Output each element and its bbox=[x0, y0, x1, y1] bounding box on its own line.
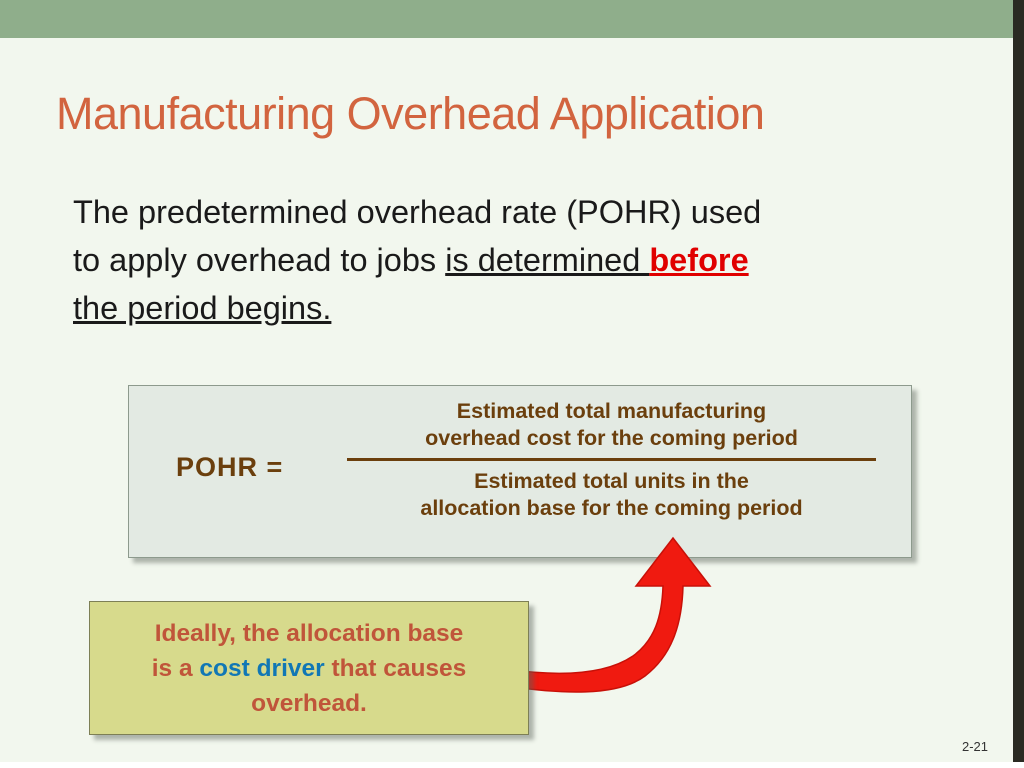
right-edge-strip bbox=[1013, 0, 1024, 768]
callout-line-3: overhead. bbox=[251, 690, 367, 717]
pohr-fraction: Estimated total manufacturing overhead c… bbox=[339, 398, 884, 522]
pohr-label: POHR = bbox=[176, 452, 283, 483]
bottom-edge-strip bbox=[0, 762, 1024, 768]
formula-box: POHR = Estimated total manufacturing ove… bbox=[128, 385, 912, 558]
top-green-band bbox=[0, 0, 1013, 38]
callout-line-2-pre: is a bbox=[152, 655, 200, 682]
fraction-bar bbox=[347, 458, 876, 461]
numerator-line-1: Estimated total manufacturing bbox=[339, 398, 884, 425]
body-line-2-plain: to apply overhead to jobs bbox=[73, 242, 445, 278]
denominator-line-1: Estimated total units in the bbox=[339, 468, 884, 495]
callout-line-2-post: that causes bbox=[325, 655, 467, 682]
body-emphasis-before: before bbox=[649, 242, 748, 278]
callout-line-1: Ideally, the allocation base bbox=[155, 620, 464, 647]
body-line-3-underlined: the period begins. bbox=[73, 290, 331, 326]
fraction-numerator: Estimated total manufacturing overhead c… bbox=[339, 398, 884, 456]
slide-canvas: Manufacturing Overhead Application The p… bbox=[0, 0, 1024, 768]
callout-highlight-cost-driver: cost driver bbox=[199, 655, 324, 682]
red-curved-arrow-icon bbox=[505, 536, 735, 696]
callout-box: Ideally, the allocation base is a cost d… bbox=[89, 601, 529, 735]
numerator-line-2: overhead cost for the coming period bbox=[339, 425, 884, 452]
page-number: 2-21 bbox=[962, 739, 988, 754]
callout-text: Ideally, the allocation base is a cost d… bbox=[90, 616, 528, 721]
body-line-2-underlined: is determined bbox=[445, 242, 649, 278]
denominator-line-2: allocation base for the coming period bbox=[339, 495, 884, 522]
page-title: Manufacturing Overhead Application bbox=[56, 88, 764, 140]
fraction-denominator: Estimated total units in the allocation … bbox=[339, 467, 884, 522]
body-line-1: The predetermined overhead rate (POHR) u… bbox=[73, 194, 761, 230]
body-paragraph: The predetermined overhead rate (POHR) u… bbox=[73, 188, 933, 332]
